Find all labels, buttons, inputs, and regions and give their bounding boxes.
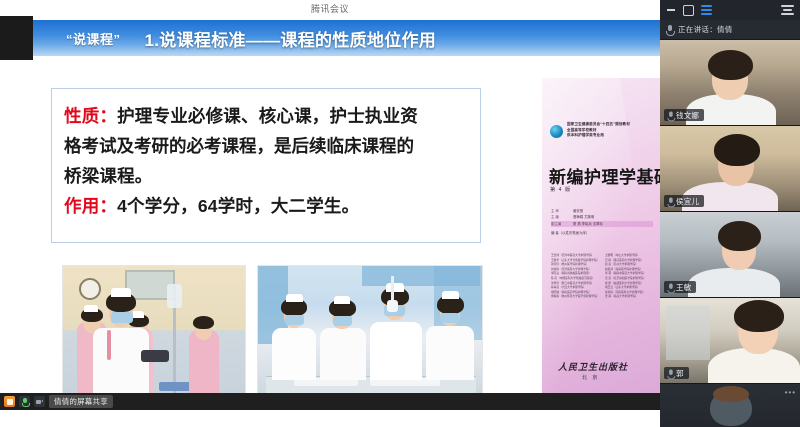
video-tile[interactable]: 侯宜儿 xyxy=(660,126,800,212)
microphone-icon xyxy=(667,197,672,205)
slide-text-label-1: 性质： xyxy=(64,106,117,126)
textbook-publisher: 人民卫生出版社 xyxy=(558,360,628,373)
active-speaker-label: 正在讲话：倩倩 xyxy=(678,24,733,35)
screen-share-label: 倩倩的屏幕共享 xyxy=(54,396,108,407)
microphone-icon xyxy=(667,283,672,291)
participant-name: 郭 xyxy=(676,368,684,379)
grid-view-icon[interactable] xyxy=(701,5,712,15)
textbook-credits: 主 审姜安丽 主 编曹梅娟 尤黎明 副主编蔡 燕 李晓兵 沈翠珍 编 者（以姓氏… xyxy=(551,208,653,237)
slide-text-line-1: 性质：护理专业必修课、核心课，护士执业资 xyxy=(64,101,470,131)
microphone-icon[interactable] xyxy=(19,396,30,407)
camera-icon[interactable] xyxy=(34,396,45,407)
participant-name: 侯宜儿 xyxy=(676,196,699,207)
taskbar: 倩倩的屏幕共享 xyxy=(0,393,660,410)
textbook-title: 新编护理学基础 xyxy=(549,163,660,188)
slide-title-banner: “说课程” 1.说课程标准——课程的性质地位作用 xyxy=(33,20,660,56)
credit-value-3: 蔡 燕 李晓兵 沈翠珍 xyxy=(573,221,603,227)
tile-more-icon[interactable]: ••• xyxy=(785,388,796,397)
slide-text-body-1: 护理专业必修课、核心课，护士执业资 xyxy=(117,106,418,126)
slide-text-line-4: 作用：4个学分，64学时，大二学生。 xyxy=(64,191,470,221)
shared-screen-area[interactable]: “说课程” 1.说课程标准——课程的性质地位作用 性质：护理专业必修课、核心课，… xyxy=(0,16,660,410)
microphone-icon xyxy=(667,111,672,119)
slide-left-accent xyxy=(0,16,33,60)
textbook-city: 北 京 xyxy=(582,374,599,381)
editor-left-6: 陈 凤（中国医科大学附属盛京医院） xyxy=(551,277,601,282)
textbook-editor-columns: 王治博（天津中医药大学护理学院） 王敬华（山东大学齐鲁医学院护理学院） 孙晓伟（… xyxy=(551,254,655,300)
meeting-window: 腾讯会议 “说课程” 1.说课程标准——课程的性质地位作用 性质：护理专业必修课… xyxy=(0,0,800,427)
participant-name-badge: 侯宜儿 xyxy=(664,195,704,207)
video-tile[interactable]: 郭 xyxy=(660,298,800,384)
editor-left-10: 曹梅娟（杭州师范大学医学部护理学院） xyxy=(551,295,601,300)
slide-text-body-3: 桥梁课程。 xyxy=(64,166,153,186)
slide-banner-title: 1.说课程标准——课程的性质地位作用 xyxy=(145,26,437,51)
participants-panel: 正在讲话：倩倩 钱文娜 侯宜儿 xyxy=(660,0,800,427)
textbook-cover-image: 国家卫生健康委员会“十四五”规划教材 全国高等学校教材 供本科护理学类专业用 新… xyxy=(542,78,660,408)
share-app-icon[interactable] xyxy=(4,396,15,407)
microphone-icon xyxy=(667,369,672,377)
editor-column-right: 尤黎明（中山大学护理学院） 吕 梅（重庆医科大学护理学院） 蔡 燕（苏州大学护理… xyxy=(605,254,655,300)
editors-label: 编 者（以姓氏笔画为序） xyxy=(551,230,589,236)
slide-body: 性质：护理专业必修课、核心课，护士执业资 格考试及考研的必考课程，是后续临床课程… xyxy=(0,60,660,410)
participant-name-badge: 钱文娜 xyxy=(664,109,704,121)
slide-text-line-3: 桥梁课程。 xyxy=(64,161,470,191)
participant-name-badge: 王敏 xyxy=(664,281,696,293)
slide-text-body-2: 格考试及考研的必考课程，是后续临床课程的 xyxy=(64,136,414,156)
video-tile[interactable]: 钱文娜 xyxy=(660,40,800,126)
participant-name: 钱文娜 xyxy=(676,110,699,121)
participant-name: 王敏 xyxy=(676,282,691,293)
slide-text-label-4: 作用： xyxy=(64,196,117,216)
slide-banner-tag: “说课程” xyxy=(66,29,121,48)
video-tile[interactable]: ••• xyxy=(660,384,800,427)
lab-practice-photo xyxy=(257,265,483,405)
panel-toggle-icon[interactable] xyxy=(781,5,794,15)
editor-left-1: 王治博（天津中医药大学护理学院） xyxy=(551,254,601,259)
app-title: 腾讯会议 xyxy=(0,0,660,16)
slide-text-body-4: 4个学分，64学时，大二学生。 xyxy=(117,196,359,216)
editor-right-10: 金 静（南昌大学护理学院） xyxy=(605,295,655,300)
textbook-header-lines: 国家卫生健康委员会“十四五”规划教材 全国高等学校教材 供本科护理学类专业用 xyxy=(567,122,653,139)
editor-column-left: 王治博（天津中医药大学护理学院） 王敬华（山东大学齐鲁医学院护理学院） 孙晓伟（… xyxy=(551,254,601,300)
clinical-practice-photo xyxy=(62,265,246,405)
credit-key-3: 副主编 xyxy=(551,221,568,227)
panel-window-controls xyxy=(660,0,800,20)
slide-text-card: 性质：护理专业必修课、核心课，护士执业资 格考试及考研的必考课程，是后续临床课程… xyxy=(51,88,481,243)
video-tile[interactable]: 王敏 xyxy=(660,212,800,298)
active-speaker-bar: 正在讲话：倩倩 xyxy=(660,20,800,40)
maximize-icon[interactable] xyxy=(683,5,694,16)
slide-text-line-2: 格考试及考研的必考课程，是后续临床课程的 xyxy=(64,131,470,161)
microphone-icon xyxy=(666,25,673,35)
participant-name-badge: 郭 xyxy=(664,367,689,379)
video-tile-list[interactable]: 钱文娜 侯宜儿 王敏 xyxy=(660,40,800,427)
minimize-icon[interactable] xyxy=(666,5,676,15)
screen-share-chip[interactable]: 倩倩的屏幕共享 xyxy=(49,395,113,408)
publisher-logo-icon xyxy=(550,125,563,138)
textbook-header-line-3: 供本科护理学类专业用 xyxy=(567,133,653,139)
textbook-edition: 第 4 版 xyxy=(550,186,571,193)
